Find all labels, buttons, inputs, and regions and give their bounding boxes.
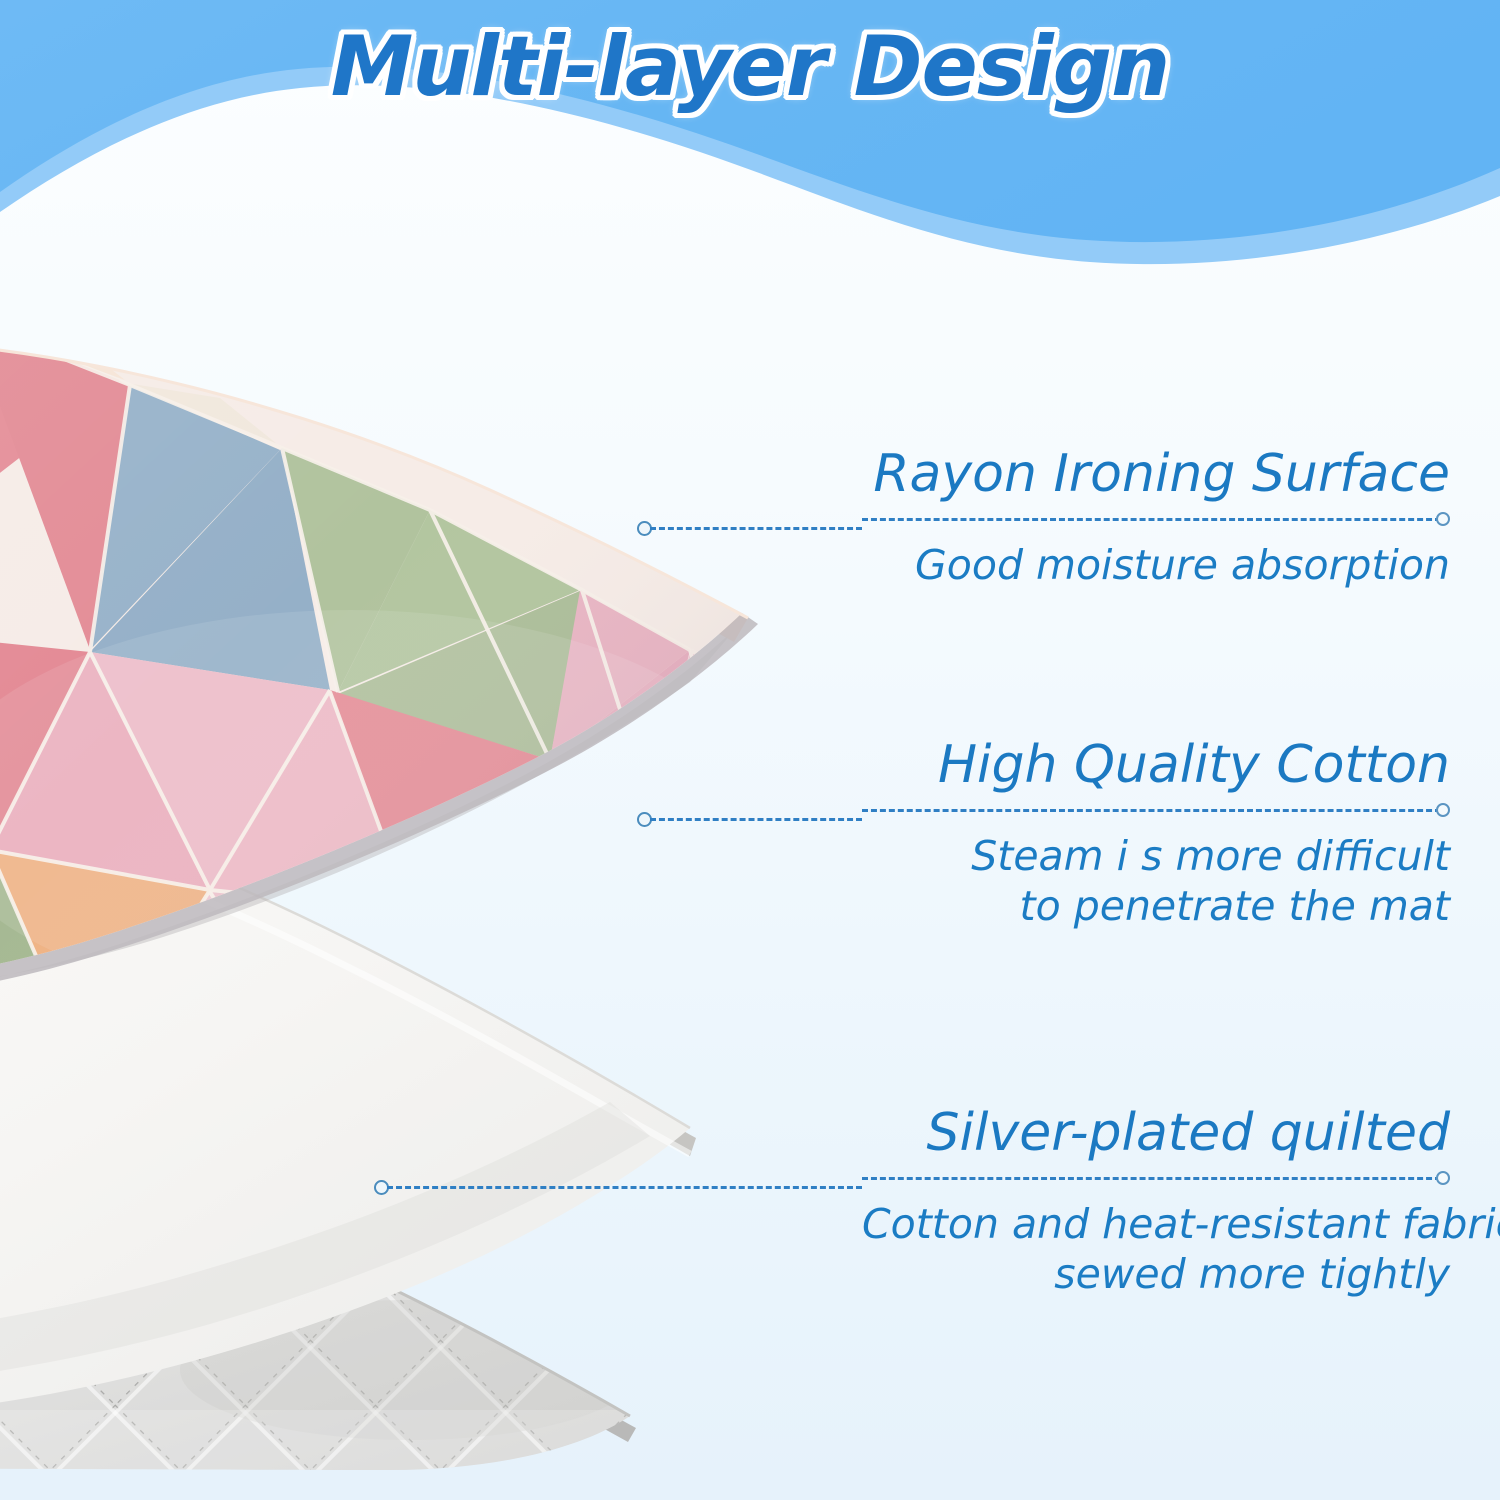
callout-subtitle-cotton-line-1: Steam i s more difficult xyxy=(862,831,1450,881)
callout-dash-cotton xyxy=(862,809,1441,812)
callout-dash-quilted xyxy=(862,1177,1441,1180)
callout-subtitle-quilted-line-1: Cotton and heat-resistant fabrics xyxy=(862,1199,1450,1249)
callout-high-quality-cotton: High Quality Cotton Steam i s more diffi… xyxy=(862,738,1450,931)
callout-silver-plated-quilted: Silver-plated quilted Cotton and heat-re… xyxy=(862,1106,1450,1299)
callout-rule-quilted xyxy=(862,1171,1450,1185)
leader-dash-cotton xyxy=(650,818,862,821)
product-layer-illustration xyxy=(0,290,850,1470)
callout-rule-rayon xyxy=(862,512,1450,526)
callout-subtitle-cotton-line-2: to penetrate the mat xyxy=(862,881,1450,931)
leader-line-cotton xyxy=(637,812,862,826)
callout-title-cotton: High Quality Cotton xyxy=(862,738,1450,793)
callout-endpoint-quilted xyxy=(1436,1171,1450,1185)
header-banner: Multi-layer Design xyxy=(0,0,1500,300)
callout-endpoint-cotton xyxy=(1436,803,1450,817)
callout-title-rayon: Rayon Ironing Surface xyxy=(862,447,1450,502)
leader-line-rayon xyxy=(637,521,862,535)
leader-line-quilted xyxy=(374,1180,862,1194)
callout-subtitle-rayon-line-1: Good moisture absorption xyxy=(862,540,1450,590)
callout-endpoint-rayon xyxy=(1436,512,1450,526)
leader-dash-quilted xyxy=(387,1186,862,1189)
leader-dash-rayon xyxy=(650,527,862,530)
banner-wave-primary xyxy=(0,0,1500,242)
callout-rayon-ironing-surface: Rayon Ironing Surface Good moisture abso… xyxy=(862,447,1450,590)
callout-dash-rayon xyxy=(862,518,1441,521)
callout-rule-cotton xyxy=(862,803,1450,817)
infographic-canvas: Multi-layer Design xyxy=(0,0,1500,1500)
callout-subtitle-quilted-line-2: sewed more tightly xyxy=(862,1249,1450,1299)
callout-title-quilted: Silver-plated quilted xyxy=(862,1106,1450,1161)
